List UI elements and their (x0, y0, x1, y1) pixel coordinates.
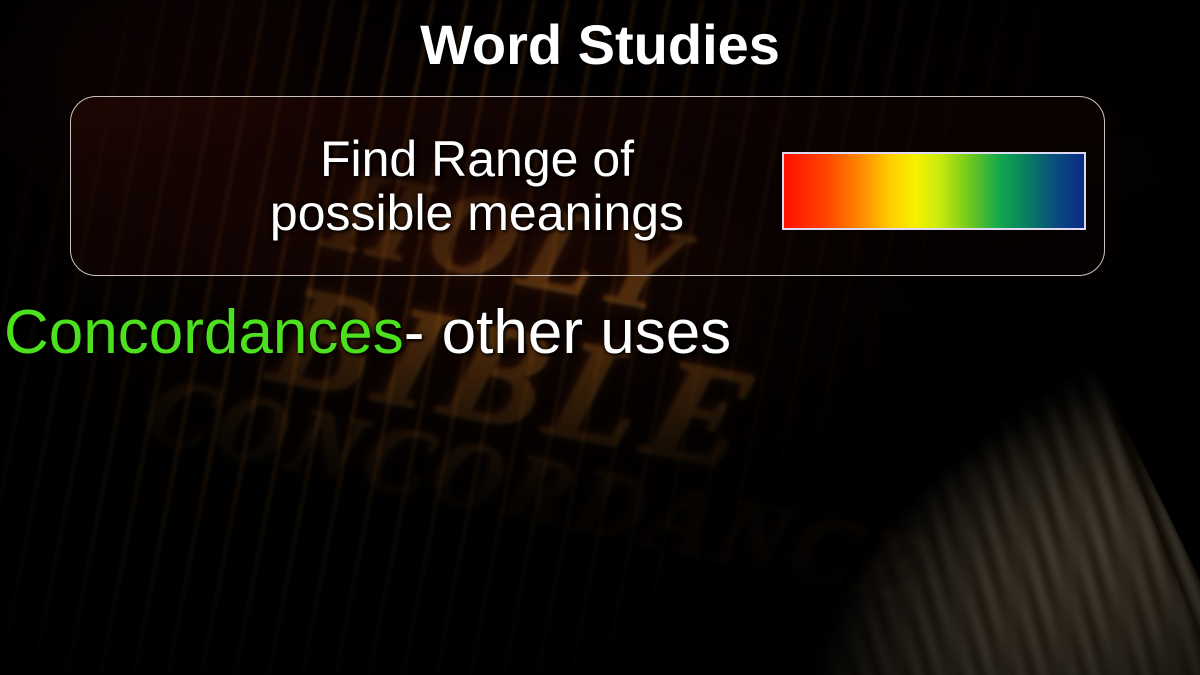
color-spectrum-bar (784, 154, 1084, 228)
panel-text-block: Find Range of possible meanings (171, 132, 783, 240)
panel-line-2: possible meanings (171, 186, 783, 240)
subtitle-rest: - other uses (404, 298, 731, 367)
slide-canvas: HOLY BIBLE CONCORDANCE Word Studies Find… (0, 0, 1200, 675)
subtitle-highlight: Concordances (4, 298, 404, 367)
panel-line-1: Find Range of (171, 132, 783, 186)
subtitle-line: Concordances- other uses (4, 300, 1200, 365)
spectrum-bar-frame (782, 152, 1086, 230)
page-title: Word Studies (0, 16, 1200, 75)
